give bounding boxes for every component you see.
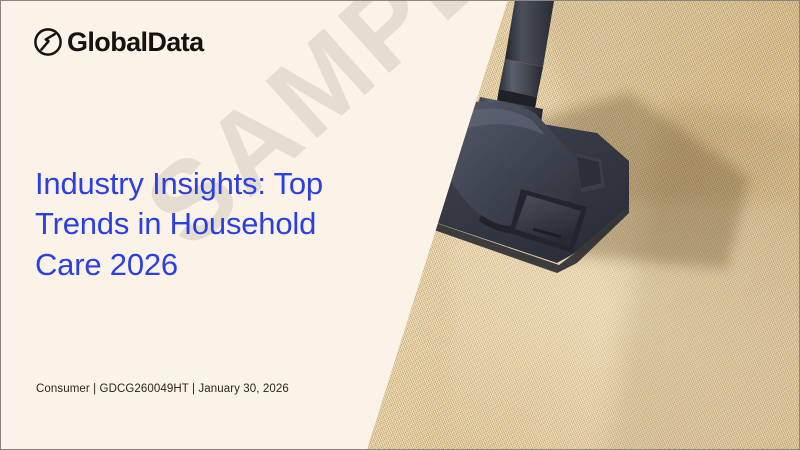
globaldata-logo[interactable]: GlobalData (33, 27, 204, 57)
logo-wordmark: GlobalData (67, 29, 204, 56)
globaldata-circle-slash-icon (33, 27, 63, 57)
cover-content: GlobalData Industry Insights: Top Trends… (1, 1, 401, 450)
page-title: Industry Insights: Top Trends in Househo… (35, 164, 380, 285)
cover-meta-line: Consumer | GDCG260049HT | January 30, 20… (36, 383, 289, 395)
report-cover-slide: SAMPLE GlobalData Industry Insights: Top… (0, 0, 800, 450)
